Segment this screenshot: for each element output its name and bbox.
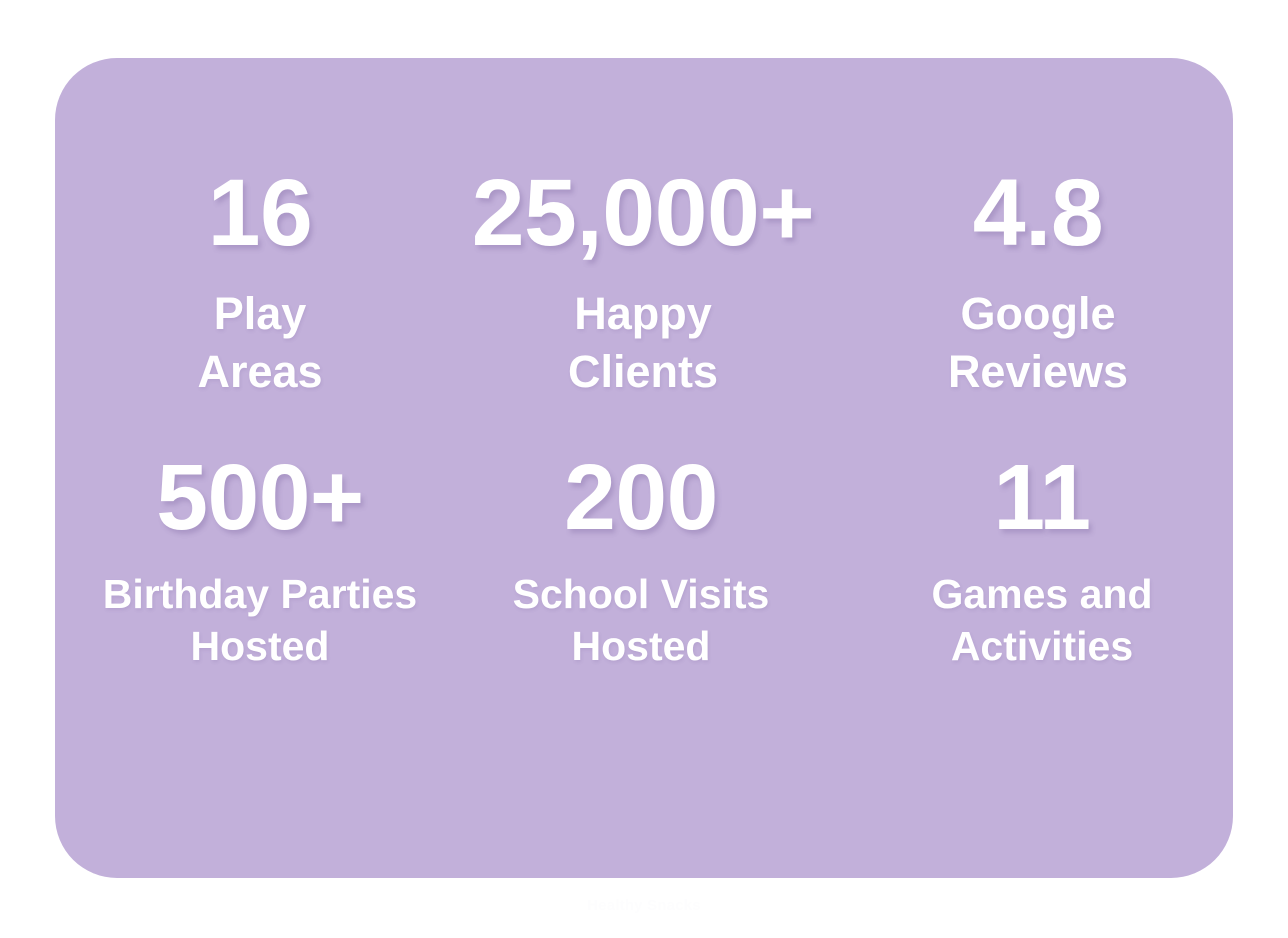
stat-item-play-areas: 16 Play Areas: [67, 166, 453, 400]
stat-label-play-areas: Play Areas: [197, 285, 322, 400]
stats-grid: 16 Play Areas 25,000+ Happy Clients 4.8 …: [55, 58, 1233, 878]
stat-label-school-visits-hosted: School Visits Hosted: [513, 568, 770, 673]
stat-value-school-visits-hosted: 200: [564, 451, 718, 544]
stat-item-happy-clients: 25,000+ Happy Clients: [450, 166, 836, 400]
stat-value-birthday-parties-hosted: 500+: [156, 451, 363, 544]
stat-value-play-areas: 16: [208, 166, 313, 261]
stats-card: 16 Play Areas 25,000+ Happy Clients 4.8 …: [55, 58, 1233, 878]
stat-item-birthday-parties-hosted: 500+ Birthday Parties Hosted: [67, 447, 453, 673]
stat-value-happy-clients: 25,000+: [472, 166, 815, 261]
stat-item-games-and-activities: 11 Games and Activities: [849, 447, 1235, 673]
stat-label-happy-clients: Happy Clients: [568, 285, 718, 400]
stat-item-school-visits-hosted: 200 School Visits Hosted: [448, 447, 834, 673]
stat-value-games-and-activities: 11: [993, 451, 1090, 544]
stat-label-games-and-activities: Games and Activities: [931, 568, 1152, 673]
watermark-text: Healthy Snacks: [0, 897, 1288, 914]
stat-value-google-reviews: 4.8: [973, 166, 1104, 261]
stat-label-google-reviews: Google Reviews: [948, 285, 1128, 400]
stat-label-birthday-parties-hosted: Birthday Parties Hosted: [103, 568, 417, 673]
stat-item-google-reviews: 4.8 Google Reviews: [845, 166, 1231, 400]
